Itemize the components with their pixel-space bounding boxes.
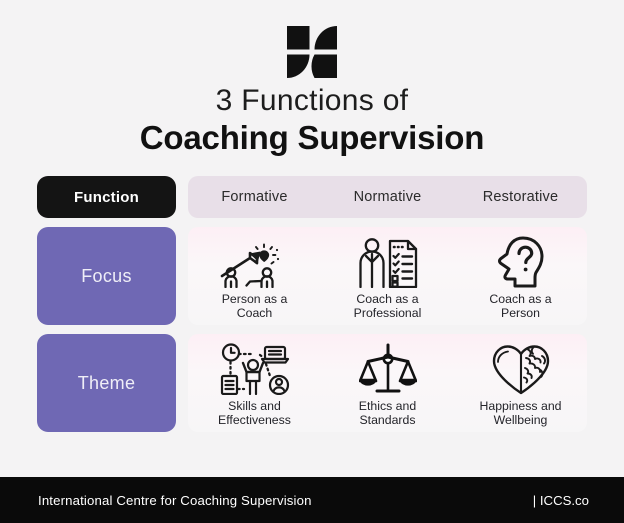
footer-organisation: International Centre for Coaching Superv… — [38, 493, 312, 508]
caption-focus-normative: Coach as a Professional — [354, 293, 422, 320]
row-label-theme-text: Theme — [78, 373, 136, 394]
theme-row-cells: Skills and Effectiveness — [188, 334, 587, 432]
title-line-2: Coaching Supervision — [0, 119, 624, 157]
cell-focus-formative: Person as a Coach — [188, 227, 321, 325]
balance-scales-icon — [359, 341, 417, 395]
caption-line-1: Coach as a — [489, 293, 551, 307]
column-header-normative: Normative — [321, 176, 454, 218]
column-headers: Formative Normative Restorative — [188, 176, 587, 218]
head-question-mark-icon — [493, 234, 549, 288]
caption-theme-restorative: Happiness and Wellbeing — [479, 400, 561, 427]
caption-theme-normative: Ethics and Standards — [359, 400, 416, 427]
cell-focus-restorative: Coach as a Person — [454, 227, 587, 325]
professional-checklist-icon — [354, 234, 422, 288]
caption-line-1: Ethics and — [359, 400, 416, 414]
caption-focus-formative: Person as a Coach — [222, 293, 288, 320]
caption-line-1: Coach as a — [354, 293, 422, 307]
cell-focus-normative: Coach as a Professional — [321, 227, 454, 325]
caption-line-2: Coach — [222, 307, 288, 321]
cell-theme-formative: Skills and Effectiveness — [188, 334, 321, 432]
caption-line-1: Person as a — [222, 293, 288, 307]
cell-theme-normative: Ethics and Standards — [321, 334, 454, 432]
people-arrow-heart-icon — [216, 234, 294, 288]
column-header-restorative-label: Restorative — [483, 189, 559, 205]
infographic-canvas: 3 Functions of Coaching Supervision Func… — [0, 0, 624, 523]
row-label-function: Function — [37, 176, 176, 218]
cell-theme-restorative: Happiness and Wellbeing — [454, 334, 587, 432]
caption-theme-formative: Skills and Effectiveness — [218, 400, 291, 427]
caption-line-2: Wellbeing — [479, 414, 561, 428]
caption-line-1: Skills and — [218, 400, 291, 414]
column-header-normative-label: Normative — [354, 189, 422, 205]
caption-line-1: Happiness and — [479, 400, 561, 414]
caption-line-2: Standards — [359, 414, 416, 428]
table-row: Theme — [37, 334, 587, 432]
caption-line-2: Effectiveness — [218, 414, 291, 428]
skills-person-clock-laptop-icon — [219, 341, 291, 395]
focus-row-cells: Person as a Coach — [188, 227, 587, 325]
caption-line-2: Person — [489, 307, 551, 321]
table-header-row: Function Formative Normative Restorative — [37, 176, 587, 218]
caption-line-2: Professional — [354, 307, 422, 321]
row-label-focus-text: Focus — [81, 266, 132, 287]
row-label-focus: Focus — [37, 227, 176, 325]
row-label-theme: Theme — [37, 334, 176, 432]
functions-table: Function Formative Normative Restorative… — [37, 176, 587, 432]
title-line-1: 3 Functions of — [0, 84, 624, 118]
caption-focus-restorative: Coach as a Person — [489, 293, 551, 320]
column-header-restorative: Restorative — [454, 176, 587, 218]
footer-bar: International Centre for Coaching Superv… — [0, 477, 624, 523]
column-header-formative: Formative — [188, 176, 321, 218]
row-label-function-text: Function — [74, 189, 139, 206]
table-row: Focus — [37, 227, 587, 325]
heart-brain-icon — [490, 341, 552, 395]
column-header-formative-label: Formative — [221, 189, 287, 205]
footer-website[interactable]: | ICCS.co — [533, 493, 589, 508]
page-title: 3 Functions of Coaching Supervision — [0, 84, 624, 157]
iccs-leaf-quadrant-logo-icon — [287, 26, 337, 78]
